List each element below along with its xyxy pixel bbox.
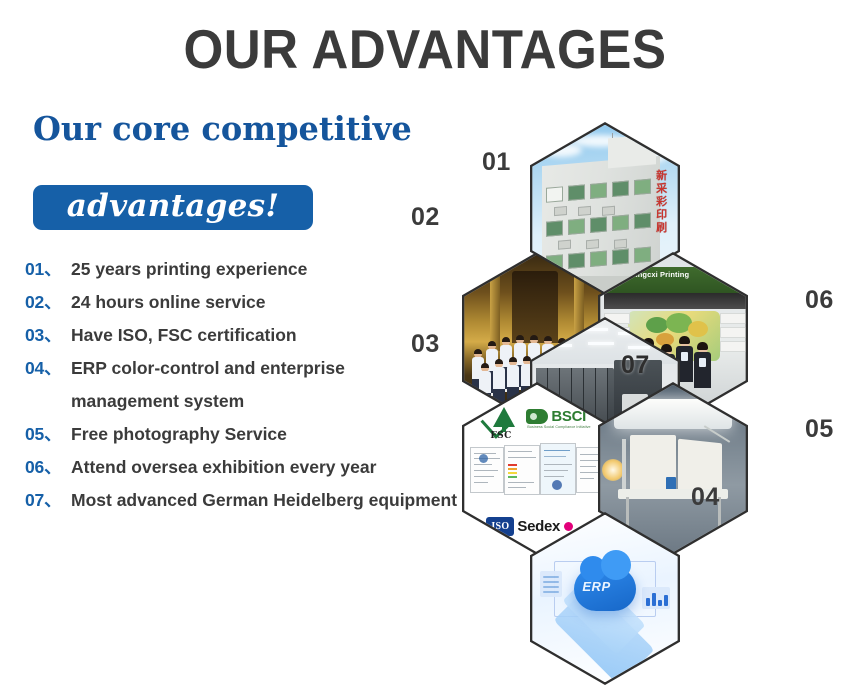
- list-item-number: 04、: [25, 355, 71, 380]
- fsc-label: FSC: [490, 431, 511, 441]
- sedex-label: Sedex: [517, 518, 560, 535]
- erp-cloud-label: ERP: [582, 579, 610, 594]
- hexagon-number-07: 07: [621, 353, 650, 378]
- list-item-number: 01、: [25, 256, 71, 281]
- hexagon-number-04: 04: [691, 485, 720, 510]
- list-item: 01、 25 years printing experience: [25, 256, 475, 289]
- page-title: OUR ADVANTAGES: [30, 22, 821, 77]
- list-item: 06、 Attend oversea exhibition every year: [25, 454, 475, 487]
- list-item-number: 07、: [25, 487, 71, 512]
- bsci-sublabel: Business Social Compliance Initiative: [527, 425, 590, 429]
- fsc-logo-icon: FSC: [484, 407, 524, 441]
- hexagon-number-05: 05: [805, 417, 834, 442]
- hexagon-number-06: 06: [805, 288, 834, 313]
- iso-sedex-logos: ISO Sedex: [486, 517, 573, 536]
- hexagon-number-02: 02: [411, 205, 440, 230]
- list-item: 07、 Most advanced German Heidelberg equi…: [25, 487, 475, 520]
- sedex-dot-icon: [564, 522, 573, 531]
- list-item-text: management system: [71, 391, 244, 412]
- list-item-text: 24 hours online service: [71, 292, 266, 313]
- bsci-label: BSCI: [551, 408, 586, 425]
- list-item-number: 05、: [25, 421, 71, 446]
- list-item-text: Most advanced German Heidelberg equipmen…: [71, 490, 457, 511]
- hexagon-number-01: 01: [482, 150, 511, 175]
- list-item: 05、 Free photography Service: [25, 421, 475, 454]
- hexagon-photo-cluster: 新采彩印刷 zhou Xingcxi Printing td.: [425, 110, 850, 530]
- hexagon-number-03: 03: [411, 332, 440, 357]
- building-sign-text: 新采彩印刷: [654, 169, 670, 234]
- list-item-text: Have ISO, FSC certification: [71, 325, 297, 346]
- advantages-badge: advantages!: [33, 185, 313, 230]
- list-item-text: 25 years printing experience: [71, 259, 307, 280]
- list-item: 03、 Have ISO, FSC certification: [25, 322, 475, 355]
- advantages-badge-label: advantages!: [67, 191, 280, 225]
- list-item-number: 06、: [25, 454, 71, 479]
- list-item-continuation: 04、 management system: [25, 388, 475, 421]
- list-item-text: ERP color-control and enterprise: [71, 358, 345, 379]
- advantages-banner: OUR ADVANTAGES Our core competitive adva…: [0, 0, 850, 550]
- iso-label: ISO: [486, 517, 514, 536]
- list-item: 02、 24 hours online service: [25, 289, 475, 322]
- list-item-text: Free photography Service: [71, 424, 287, 445]
- advantages-list: 01、 25 years printing experience 02、 24 …: [25, 256, 475, 520]
- subheading: Our core competitive: [33, 112, 412, 145]
- list-item-number: 03、: [25, 322, 71, 347]
- list-item-number: 02、: [25, 289, 71, 314]
- list-item: 04、 ERP color-control and enterprise: [25, 355, 475, 388]
- list-item-text: Attend oversea exhibition every year: [71, 457, 376, 478]
